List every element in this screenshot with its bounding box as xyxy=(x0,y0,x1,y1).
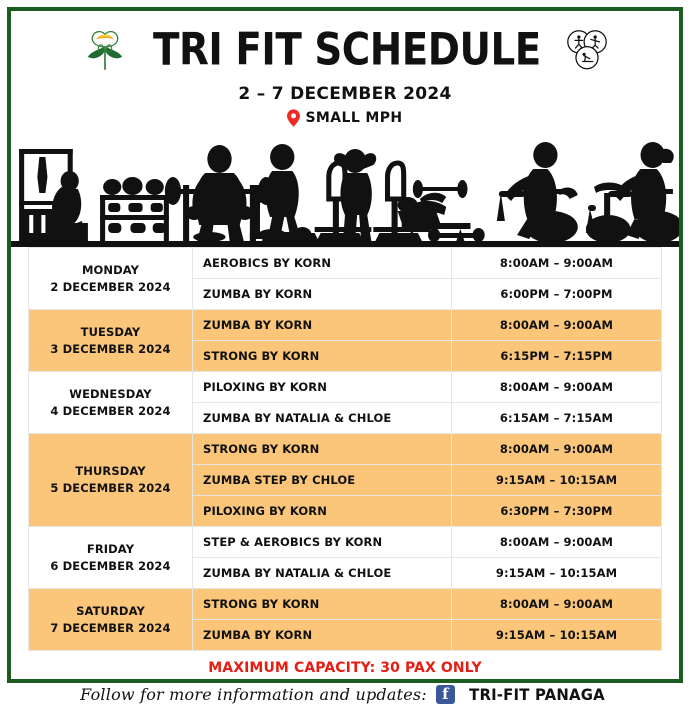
class-time-cell: 9:15AM – 10:15AM xyxy=(452,620,662,651)
day-date: 7 DECEMBER 2024 xyxy=(31,620,190,637)
facebook-f-glyph: f xyxy=(442,687,448,702)
class-time-cell: 9:15AM – 10:15AM xyxy=(452,465,662,496)
class-name-cell: STRONG BY KORN xyxy=(193,434,452,465)
schedule-table-wrap: MONDAY2 DECEMBER 2024AEROBICS BY KORN8:0… xyxy=(11,247,679,651)
class-time-cell: 8:00AM – 9:00AM xyxy=(452,434,662,465)
class-time-cell: 6:30PM – 7:30PM xyxy=(452,496,662,527)
three-circles-fitness-logo xyxy=(563,26,611,74)
poster-header: TRI FIT SCHEDULE xyxy=(11,11,679,127)
day-name: TUESDAY xyxy=(31,324,190,341)
class-name-cell: AEROBICS BY KORN xyxy=(193,248,452,279)
class-time-cell: 8:00AM – 9:00AM xyxy=(452,248,662,279)
class-time-cell: 8:00AM – 9:00AM xyxy=(452,527,662,558)
poster-frame: TRI FIT SCHEDULE xyxy=(7,7,683,683)
class-name-cell: ZUMBA BY KORN xyxy=(193,310,452,341)
class-name-cell: STEP & AEROBICS BY KORN xyxy=(193,527,452,558)
location-pin-icon xyxy=(287,109,300,127)
venue-row: SMALL MPH xyxy=(11,109,679,127)
class-name-cell: STRONG BY KORN xyxy=(193,341,452,372)
poster-root: TRI FIT SCHEDULE xyxy=(0,0,690,690)
table-row: MONDAY2 DECEMBER 2024AEROBICS BY KORN8:0… xyxy=(29,248,662,279)
day-name: WEDNESDAY xyxy=(31,386,190,403)
day-cell: FRIDAY6 DECEMBER 2024 xyxy=(29,527,193,589)
title-row: TRI FIT SCHEDULE xyxy=(11,22,679,78)
follow-label: Follow for more information and updates: xyxy=(80,685,427,704)
day-name: MONDAY xyxy=(31,262,190,279)
facebook-page-name[interactable]: TRI-FIT PANAGA xyxy=(469,685,605,704)
schedule-table: MONDAY2 DECEMBER 2024AEROBICS BY KORN8:0… xyxy=(28,247,662,651)
table-row: SATURDAY7 DECEMBER 2024STRONG BY KORN8:0… xyxy=(29,589,662,620)
day-cell: THURSDAY5 DECEMBER 2024 xyxy=(29,434,193,527)
day-date: 5 DECEMBER 2024 xyxy=(31,480,190,497)
tri-fit-flower-logo xyxy=(79,24,131,76)
facebook-icon[interactable]: f xyxy=(436,685,455,704)
day-cell: SATURDAY7 DECEMBER 2024 xyxy=(29,589,193,651)
day-cell: TUESDAY3 DECEMBER 2024 xyxy=(29,310,193,372)
day-name: SATURDAY xyxy=(31,603,190,620)
class-name-cell: ZUMBA STEP BY CHLOE xyxy=(193,465,452,496)
day-cell: WEDNESDAY4 DECEMBER 2024 xyxy=(29,372,193,434)
class-time-cell: 6:15PM – 7:15PM xyxy=(452,341,662,372)
class-time-cell: 8:00AM – 9:00AM xyxy=(452,372,662,403)
class-name-cell: PILOXING BY KORN xyxy=(193,372,452,403)
class-time-cell: 9:15AM – 10:15AM xyxy=(452,558,662,589)
gym-silhouette-band xyxy=(11,129,679,247)
day-date: 4 DECEMBER 2024 xyxy=(31,403,190,420)
class-time-cell: 8:00AM – 9:00AM xyxy=(452,310,662,341)
day-date: 2 DECEMBER 2024 xyxy=(31,279,190,296)
class-name-cell: ZUMBA BY NATALIA & CHLOE xyxy=(193,403,452,434)
poster-footer: MAXIMUM CAPACITY: 30 PAX ONLY Follow for… xyxy=(11,651,679,714)
table-row: THURSDAY5 DECEMBER 2024STRONG BY KORN8:0… xyxy=(29,434,662,465)
venue-label: SMALL MPH xyxy=(305,110,402,126)
class-time-cell: 6:15AM – 7:15AM xyxy=(452,403,662,434)
day-date: 3 DECEMBER 2024 xyxy=(31,341,190,358)
table-row: WEDNESDAY4 DECEMBER 2024PILOXING BY KORN… xyxy=(29,372,662,403)
page-title: TRI FIT SCHEDULE xyxy=(153,24,541,76)
table-row: TUESDAY3 DECEMBER 2024ZUMBA BY KORN8:00A… xyxy=(29,310,662,341)
class-name-cell: ZUMBA BY KORN xyxy=(193,620,452,651)
date-range: 2 – 7 DECEMBER 2024 xyxy=(11,84,679,104)
capacity-notice: MAXIMUM CAPACITY: 30 PAX ONLY xyxy=(11,660,679,676)
class-name-cell: ZUMBA BY NATALIA & CHLOE xyxy=(193,558,452,589)
class-time-cell: 8:00AM – 9:00AM xyxy=(452,589,662,620)
table-row: FRIDAY6 DECEMBER 2024STEP & AEROBICS BY … xyxy=(29,527,662,558)
class-name-cell: STRONG BY KORN xyxy=(193,589,452,620)
follow-row: Follow for more information and updates:… xyxy=(11,685,679,704)
day-name: THURSDAY xyxy=(31,463,190,480)
class-name-cell: PILOXING BY KORN xyxy=(193,496,452,527)
day-date: 6 DECEMBER 2024 xyxy=(31,558,190,575)
day-cell: MONDAY2 DECEMBER 2024 xyxy=(29,248,193,310)
class-time-cell: 6:00PM – 7:00PM xyxy=(452,279,662,310)
class-name-cell: ZUMBA BY KORN xyxy=(193,279,452,310)
day-name: FRIDAY xyxy=(31,541,190,558)
